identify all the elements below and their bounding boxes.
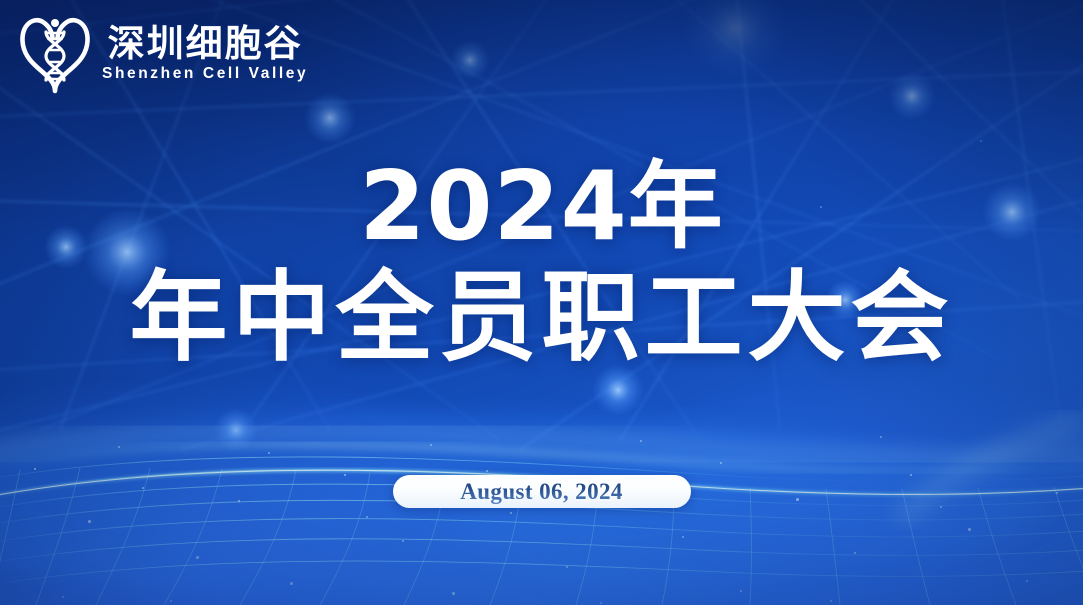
title-line-year: 2024年 [0,160,1083,255]
event-date-badge: August 06, 2024 [393,475,691,508]
brand-wordmark: 深圳细胞谷 Shenzhen Cell Valley [102,25,308,83]
brand-name-en: Shenzhen Cell Valley [102,65,308,84]
title-line-main: 年中全员职工大会 [0,269,1083,367]
dna-helix-heart-logo-icon [18,12,92,94]
event-title: 2024年 年中全员职工大会 [0,160,1083,367]
slide-canvas: 深圳细胞谷 Shenzhen Cell Valley 2024年 年中全员职工大… [0,0,1083,605]
brand-name-cn: 深圳细胞谷 [108,25,303,64]
event-date-text: August 06, 2024 [460,479,623,505]
brand-logo: 深圳细胞谷 Shenzhen Cell Valley [18,12,308,94]
